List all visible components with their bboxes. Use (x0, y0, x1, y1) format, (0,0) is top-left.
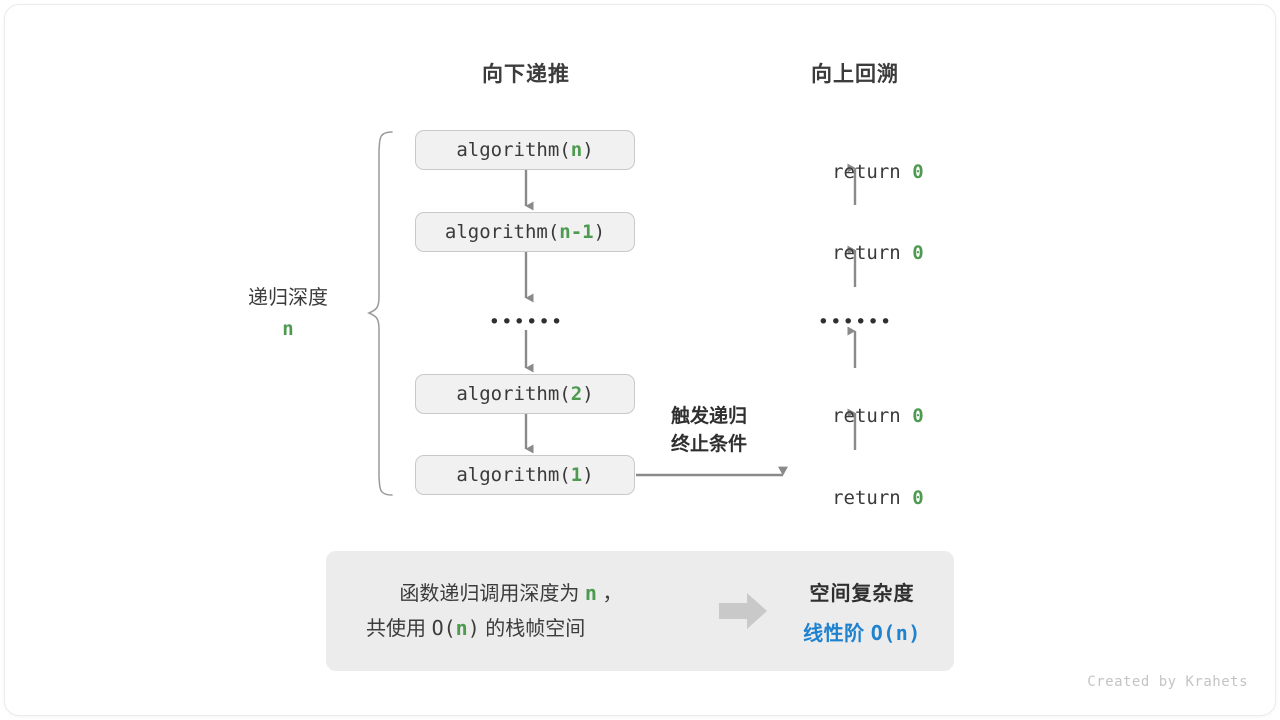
recursion-depth-value: n (248, 318, 328, 340)
summary-line2-prefix: 共使用 (366, 618, 432, 640)
summary-line2-suffix: 的栈帧空间 (480, 618, 586, 640)
complexity-value: 线性阶 O(n) (780, 617, 944, 646)
return-value: 0 (912, 161, 923, 183)
return-ellipsis: •••••• (818, 311, 893, 333)
return-value: 0 (912, 242, 923, 264)
call-frame-prefix: algorithm( (445, 221, 559, 243)
summary-line2-open: O( (432, 616, 456, 640)
column-title-backtrack-up: 向上回溯 (811, 58, 899, 88)
return-keyword: return (832, 487, 912, 509)
recursion-depth-text: 递归深度 (248, 281, 328, 310)
return-statement: return 0 (786, 383, 923, 449)
call-frame-box[interactable]: algorithm(n) (415, 130, 635, 170)
call-frame-prefix: algorithm( (456, 139, 570, 161)
base-case-label-line2: 终止条件 (671, 434, 747, 455)
diagram-canvas: 向下递推 向上回溯 (0, 0, 1280, 720)
return-value: 0 (912, 487, 923, 509)
right-arrow-icon (717, 591, 769, 631)
summary-panel: 函数递归调用深度为 n ，共使用 O(n) 的栈帧空间 空间复杂度 线性阶 O(… (326, 551, 954, 671)
return-value: 0 (912, 405, 923, 427)
call-frame-suffix: ) (594, 221, 605, 243)
recursion-depth-label: 递归深度 n (248, 281, 328, 340)
complexity-bigo: O(n) (871, 621, 921, 645)
summary-arrow-wrap (706, 591, 780, 631)
return-statement: return 0 (786, 139, 923, 205)
summary-line2-var: n (456, 616, 468, 640)
call-ellipsis: •••••• (489, 311, 564, 333)
summary-line1-prefix: 函数递归调用深度为 (399, 583, 585, 605)
call-frame-suffix: ) (582, 383, 593, 405)
call-frame-arg: n (571, 139, 582, 161)
summary-line1-var: n (585, 581, 597, 605)
complexity-result: 空间复杂度 线性阶 O(n) (780, 577, 954, 646)
call-frame-box[interactable]: algorithm(1) (415, 455, 635, 495)
call-frame-prefix: algorithm( (456, 464, 570, 486)
call-frame-prefix: algorithm( (456, 383, 570, 405)
call-frame-box[interactable]: algorithm(n-1) (415, 212, 635, 252)
complexity-order: 线性阶 (803, 623, 871, 645)
base-case-label-line1: 触发递归 (671, 406, 747, 427)
summary-line2-close: ) (468, 616, 480, 640)
call-frame-arg: 2 (571, 383, 582, 405)
return-keyword: return (832, 405, 912, 427)
call-frame-suffix: ) (582, 139, 593, 161)
return-statement: return 0 (786, 220, 923, 286)
call-frame-arg: n-1 (559, 221, 593, 243)
call-frame-box[interactable]: algorithm(2) (415, 374, 635, 414)
call-frame-arg: 1 (571, 464, 582, 486)
credit-text: Created by Krahets (1087, 674, 1248, 690)
return-keyword: return (832, 161, 912, 183)
return-statement: return 0 (786, 465, 923, 531)
summary-description: 函数递归调用深度为 n ，共使用 O(n) 的栈帧空间 (326, 542, 706, 680)
base-case-label: 触发递归 终止条件 (671, 403, 747, 459)
return-keyword: return (832, 242, 912, 264)
summary-line1-suffix: ， (597, 583, 623, 605)
call-frame-suffix: ) (582, 464, 593, 486)
column-title-recurse-down: 向下递推 (482, 58, 570, 88)
complexity-title: 空间复杂度 (780, 577, 944, 606)
